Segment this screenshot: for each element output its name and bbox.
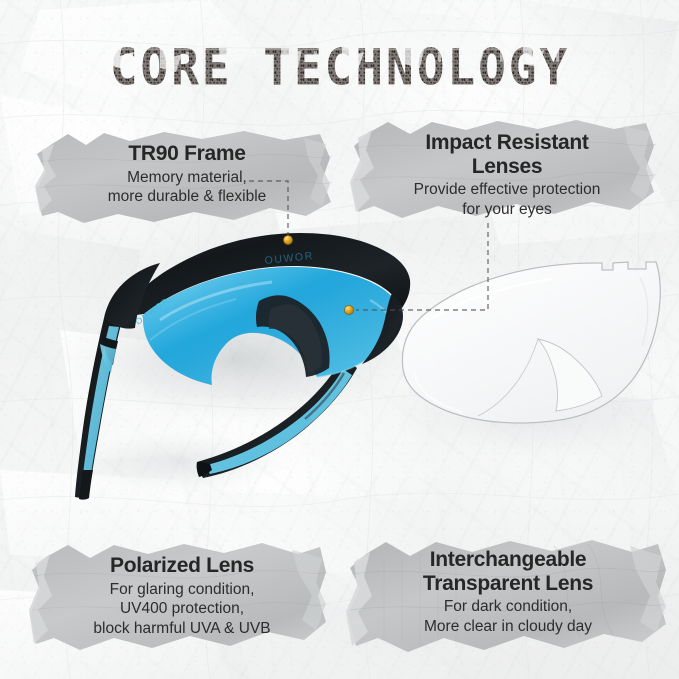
feature-description-impact-resistant-lenses: Provide effective protection for your ey… [374, 180, 640, 219]
feature-caption-polarized-lens: Polarized Lens For glaring condition, UV… [56, 554, 308, 638]
feature-caption-impact-resistant-lenses: Impact Resistant Lenses Provide effectiv… [374, 131, 640, 219]
feature-heading-polarized-lens: Polarized Lens [56, 554, 308, 578]
product-feature-infographic: CORE TECHNOLOGY [0, 0, 679, 679]
feature-description-tr90-frame: Memory material, more durable & flexible [62, 168, 312, 207]
feature-heading-impact-resistant-lenses: Impact Resistant Lenses [374, 131, 640, 178]
feature-caption-interchangeable-transparent-lens: Interchangeable Transparent Lens For dar… [368, 548, 648, 636]
feature-heading-interchangeable-transparent-lens: Interchangeable Transparent Lens [368, 548, 648, 595]
feature-description-interchangeable-transparent-lens: For dark condition, More clear in cloudy… [368, 597, 648, 636]
feature-caption-tr90-frame: TR90 Frame Memory material, more durable… [62, 142, 312, 207]
feature-heading-tr90-frame: TR90 Frame [62, 142, 312, 166]
feature-description-polarized-lens: For glaring condition, UV400 protection,… [56, 580, 308, 639]
